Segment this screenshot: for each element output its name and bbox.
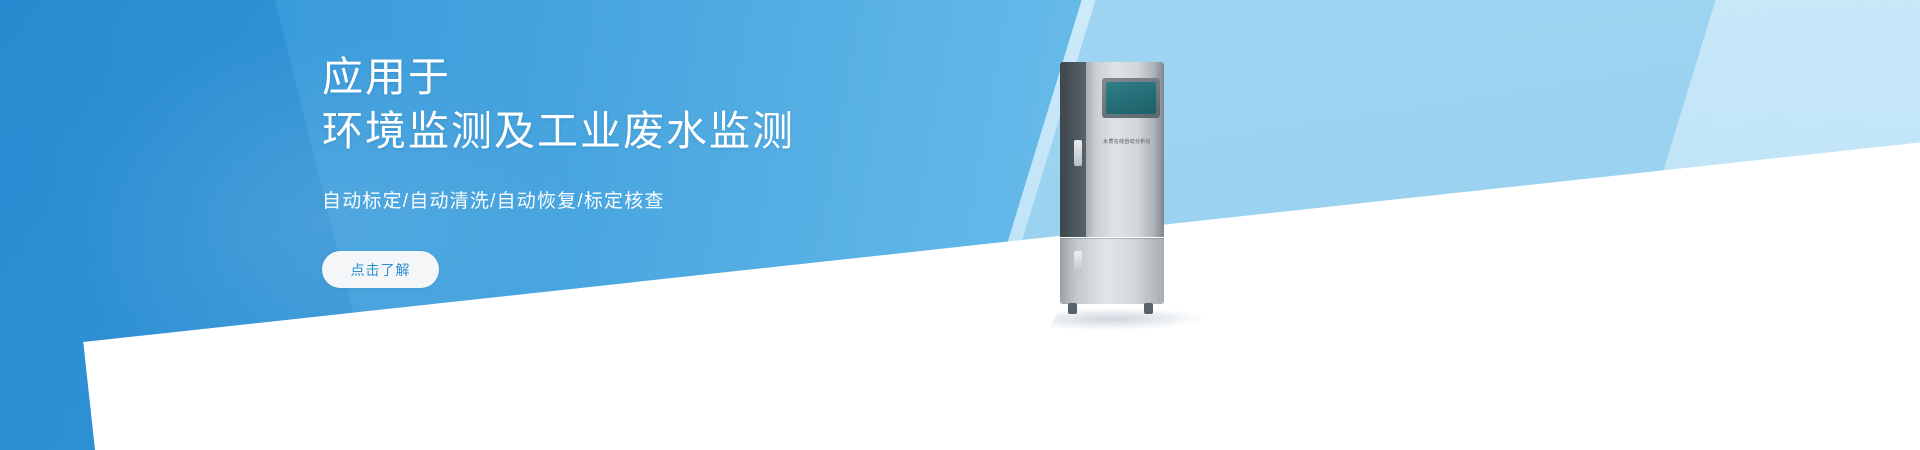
headline-line-2: 环境监测及工业废水监测: [322, 104, 1082, 158]
banner-content: 应用于 环境监测及工业废水监测 自动标定/自动清洗/自动恢复/标定核查 点击了解: [322, 50, 1082, 288]
display-screen-surface: [1106, 82, 1156, 114]
product-analyzer-image: 水质在线自动分析仪: [1060, 62, 1180, 314]
display-screen: [1102, 78, 1160, 118]
caster-left-icon: [1068, 303, 1077, 314]
banner-subtitle: 自动标定/自动清洗/自动恢复/标定核查: [322, 186, 1082, 213]
product-label: 水质在线自动分析仪: [1090, 138, 1164, 145]
cabinet-upper-dark-panel: [1060, 62, 1086, 237]
cabinet-upper: 水质在线自动分析仪: [1060, 62, 1164, 237]
cabinet-lower-handle: [1074, 251, 1082, 273]
cabinet-upper-handle: [1074, 140, 1082, 166]
banner-headline: 应用于 环境监测及工业废水监测: [322, 50, 1082, 158]
learn-more-button[interactable]: 点击了解: [322, 251, 439, 288]
caster-right-icon: [1144, 303, 1153, 314]
cabinet-lower: [1060, 238, 1164, 304]
headline-line-1: 应用于: [322, 54, 451, 100]
hero-banner: 应用于 环境监测及工业废水监测 自动标定/自动清洗/自动恢复/标定核查 点击了解…: [0, 0, 1920, 450]
